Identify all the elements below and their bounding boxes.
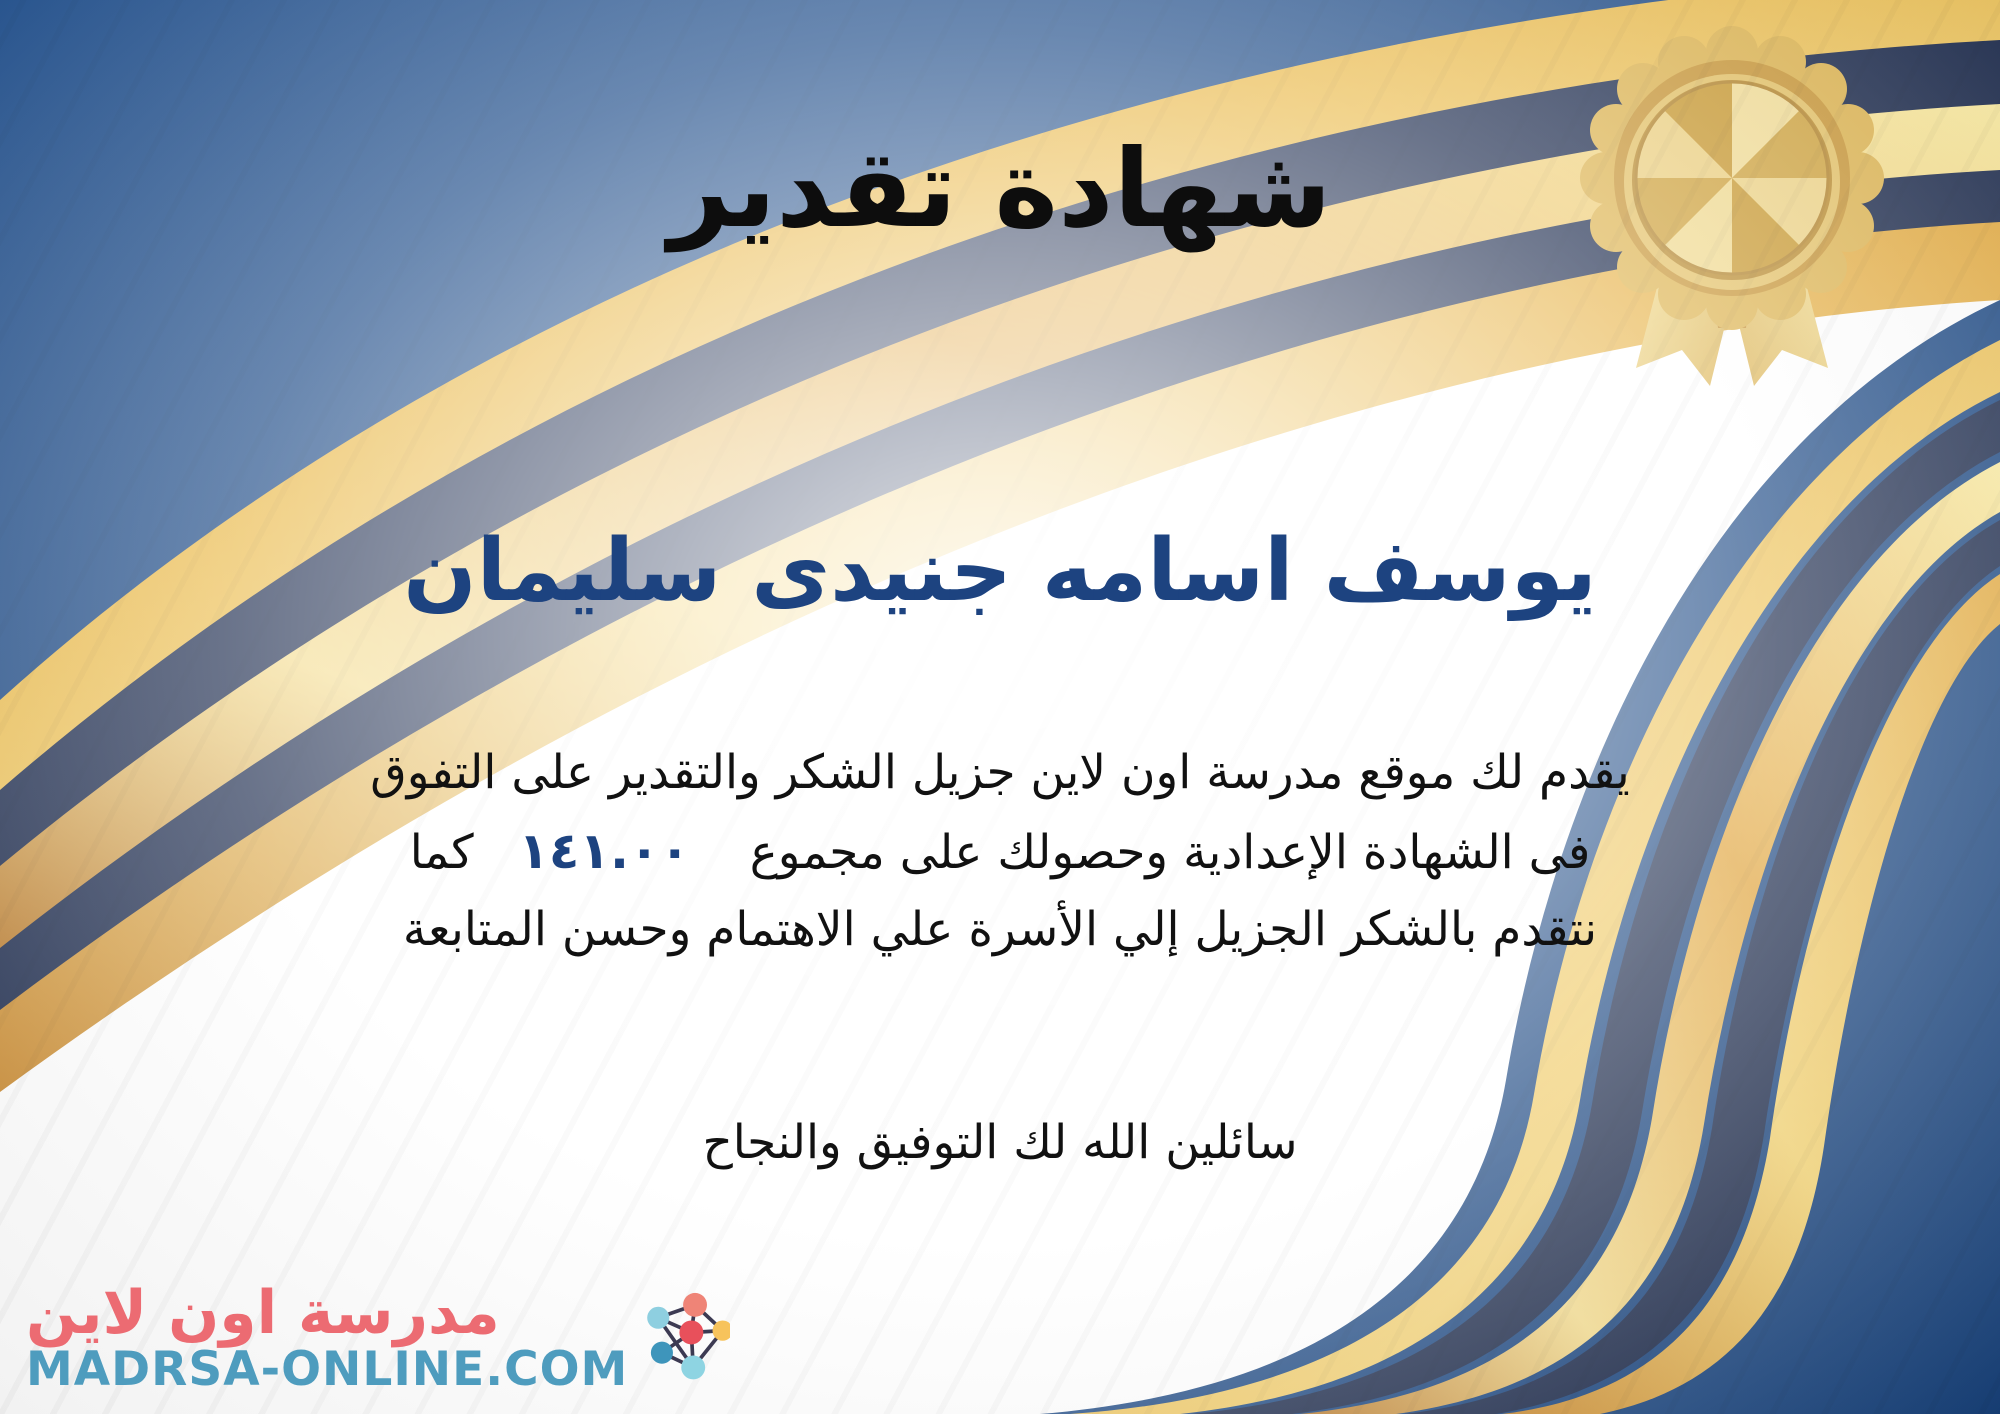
site-logo[interactable]: مدرسة اون لاين MADRSA-ONLINE.COM <box>26 1282 730 1394</box>
closing-line: سائلين الله لك التوفيق والنجاح <box>0 1108 2000 1179</box>
body-line-3: نتقدم بالشكر الجزيل إلي الأسرة علي الاهت… <box>60 892 1940 968</box>
logo-arabic-name: مدرسة اون لاين <box>26 1282 500 1345</box>
body-line-2-suffix: كما <box>410 815 519 891</box>
body-line-1: يقدم لك موقع مدرسة اون لاين جزيل الشكر و… <box>60 735 1940 811</box>
certificate-page: شهادة تقدير يوسف اسامه جنيدى سليمان يقدم… <box>0 0 2000 1414</box>
total-score-value: ١٤١.٠٠ <box>518 811 690 892</box>
certificate-body: يقدم لك موقع مدرسة اون لاين جزيل الشكر و… <box>60 735 1940 968</box>
network-nodes-icon <box>638 1286 730 1390</box>
recipient-name: يوسف اسامه جنيدى سليمان <box>0 520 2000 623</box>
body-line-2: فى الشهادة الإعدادية وحصولك على مجموع ١٤… <box>60 811 1940 892</box>
logo-text-block: مدرسة اون لاين MADRSA-ONLINE.COM <box>26 1282 628 1394</box>
body-line-2-prefix: فى الشهادة الإعدادية وحصولك على مجموع <box>690 815 1590 891</box>
page-title: شهادة تقدير <box>0 128 2000 252</box>
certificate-content: شهادة تقدير يوسف اسامه جنيدى سليمان يقدم… <box>0 0 2000 1414</box>
logo-website-url: MADRSA-ONLINE.COM <box>26 1345 628 1394</box>
